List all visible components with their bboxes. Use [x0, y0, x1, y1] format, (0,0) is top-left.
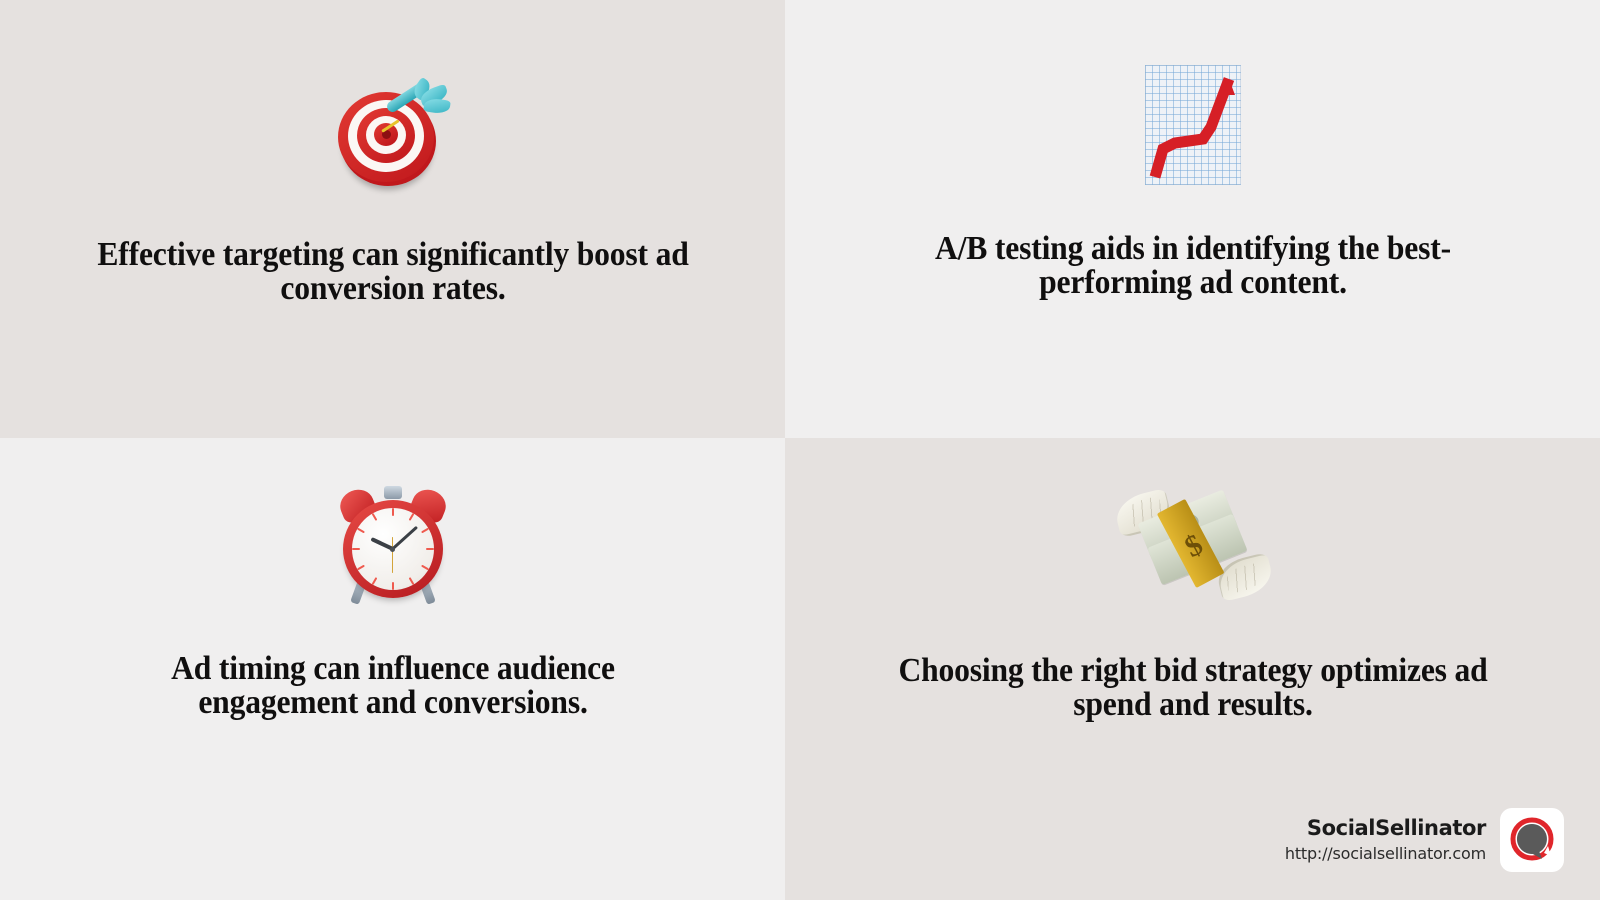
brand-block[interactable]: SocialSellinator http://socialsellinator…	[1285, 808, 1564, 872]
dart-target-icon	[313, 76, 473, 206]
brand-url[interactable]: http://socialsellinator.com	[1285, 845, 1486, 863]
brand-text-group: SocialSellinator http://socialsellinator…	[1285, 816, 1486, 864]
tip-card-ad-timing: Ad timing can influence audience engagem…	[0, 438, 785, 900]
tip-caption-targeting: Effective targeting can significantly bo…	[95, 238, 690, 306]
socialsellinator-logo[interactable]	[1500, 808, 1564, 872]
money-with-wings-icon: $	[1113, 478, 1273, 608]
brand-name: SocialSellinator	[1285, 816, 1486, 840]
alarm-clock-icon	[313, 480, 473, 610]
tip-caption-ad-timing: Ad timing can influence audience engagem…	[95, 652, 690, 720]
infographic-board: Effective targeting can significantly bo…	[0, 0, 1600, 900]
tip-caption-bid-strategy: Choosing the right bid strategy optimize…	[895, 654, 1490, 722]
tip-caption-ab-testing: A/B testing aids in identifying the best…	[895, 232, 1490, 300]
chart-increasing-icon	[1113, 60, 1273, 190]
tip-card-ab-testing: A/B testing aids in identifying the best…	[785, 0, 1600, 438]
tip-card-targeting: Effective targeting can significantly bo…	[0, 0, 785, 438]
